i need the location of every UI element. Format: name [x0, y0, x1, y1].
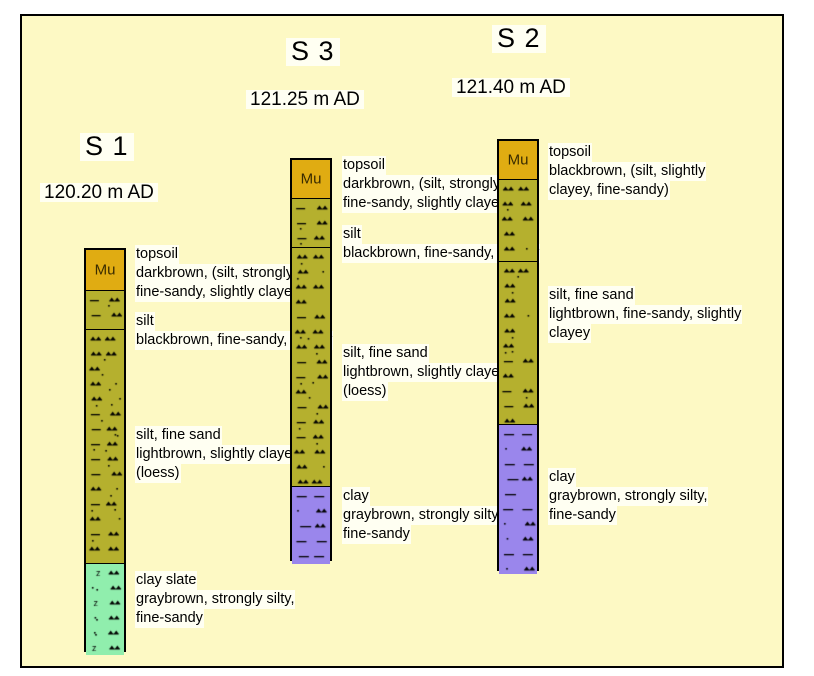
borehole-elevation-s3: 121.25 m AD	[246, 90, 364, 109]
annotation-line: graybrown, strongly silty,	[135, 590, 295, 609]
annotation-line: lightbrown, slightly clayey,	[135, 445, 304, 464]
annotation-line: silt, fine sand	[342, 344, 429, 363]
layer-s3-clay[interactable]	[292, 486, 330, 564]
annotation-line: silt, fine sand	[548, 286, 635, 305]
annotation-s3-loess: silt, fine sand lightbrown, slightly cla…	[342, 344, 511, 401]
annotation-line: fine-sandy	[548, 506, 617, 525]
layer-symbol-mu: Mu	[499, 152, 537, 169]
annotation-line: fine-sandy, slightly clayey)	[342, 194, 512, 213]
annotation-line: lightbrown, fine-sandy, slightly	[548, 305, 742, 324]
annotation-line: fine-sandy	[135, 609, 204, 628]
borehole-column-s2[interactable]: Mu	[497, 139, 539, 571]
figure-canvas: S 1 120.20 m AD topsoil darkbrown, (silt…	[0, 0, 814, 676]
borehole-column-s3[interactable]: Mu	[290, 158, 332, 561]
annotation-s3-clay: clay graybrown, strongly silty, fine-san…	[342, 487, 502, 544]
annotation-line: clay	[342, 487, 370, 506]
annotation-line: clayey	[548, 324, 591, 343]
annotation-line: clay slate	[135, 571, 197, 590]
annotation-line: topsoil	[135, 245, 179, 264]
annotation-s1-topsoil: topsoil darkbrown, (silt, strongly fine-…	[135, 245, 305, 302]
layer-s1-loess[interactable]	[86, 329, 124, 564]
layer-s3-topsoil[interactable]: Mu	[292, 160, 330, 198]
annotation-s2-topsoil: topsoil blackbrown, (silt, slightly clay…	[548, 143, 706, 200]
borehole-elevation-s2: 121.40 m AD	[452, 78, 570, 97]
annotation-line: fine-sandy, slightly clayey)	[135, 283, 305, 302]
annotation-s2-clay: clay graybrown, strongly silty, fine-san…	[548, 468, 708, 525]
annotation-line: graybrown, strongly silty,	[342, 506, 502, 525]
borehole-name-s1: S 1	[80, 133, 134, 161]
layer-s1-clay-slate[interactable]	[86, 563, 124, 655]
annotation-line: (loess)	[342, 382, 388, 401]
layer-s2-topsoil[interactable]: Mu	[499, 141, 537, 179]
layer-symbol-mu: Mu	[86, 262, 124, 279]
annotation-s2-loess: silt, fine sand lightbrown, fine-sandy, …	[548, 286, 742, 343]
layer-symbol-mu: Mu	[292, 171, 330, 188]
annotation-line: fine-sandy	[342, 525, 411, 544]
annotation-line: silt	[342, 225, 362, 244]
annotation-s1-loess: silt, fine sand lightbrown, slightly cla…	[135, 426, 304, 483]
annotation-line: topsoil	[342, 156, 386, 175]
annotation-line: blackbrown, (silt, slightly	[548, 162, 706, 181]
annotation-line: darkbrown, (silt, strongly	[342, 175, 501, 194]
layer-s2-clay[interactable]	[499, 424, 537, 574]
annotation-line: darkbrown, (silt, strongly	[135, 264, 294, 283]
annotation-line: topsoil	[548, 143, 592, 162]
annotation-s1-clay-slate: clay slate graybrown, strongly silty, fi…	[135, 571, 295, 628]
borehole-column-s1[interactable]: Mu	[84, 248, 126, 652]
borehole-elevation-s1: 120.20 m AD	[40, 183, 158, 202]
borehole-name-s2: S 2	[492, 25, 546, 53]
annotation-line: silt	[135, 312, 155, 331]
layer-s3-silt[interactable]	[292, 198, 330, 248]
layer-s2-loess[interactable]	[499, 261, 537, 425]
layer-s1-topsoil[interactable]: Mu	[86, 250, 124, 290]
annotation-line: (loess)	[135, 464, 181, 483]
borehole-name-s3: S 3	[286, 38, 340, 66]
layer-s1-silt[interactable]	[86, 290, 124, 330]
annotation-s3-topsoil: topsoil darkbrown, (silt, strongly fine-…	[342, 156, 512, 213]
annotation-line: silt, fine sand	[135, 426, 222, 445]
annotation-line: clay	[548, 468, 576, 487]
annotation-line: graybrown, strongly silty,	[548, 487, 708, 506]
layer-s2-silt[interactable]	[499, 179, 537, 262]
layer-s3-loess[interactable]	[292, 247, 330, 487]
annotation-line: clayey, fine-sandy)	[548, 181, 670, 200]
annotation-line: lightbrown, slightly clayey,	[342, 363, 511, 382]
